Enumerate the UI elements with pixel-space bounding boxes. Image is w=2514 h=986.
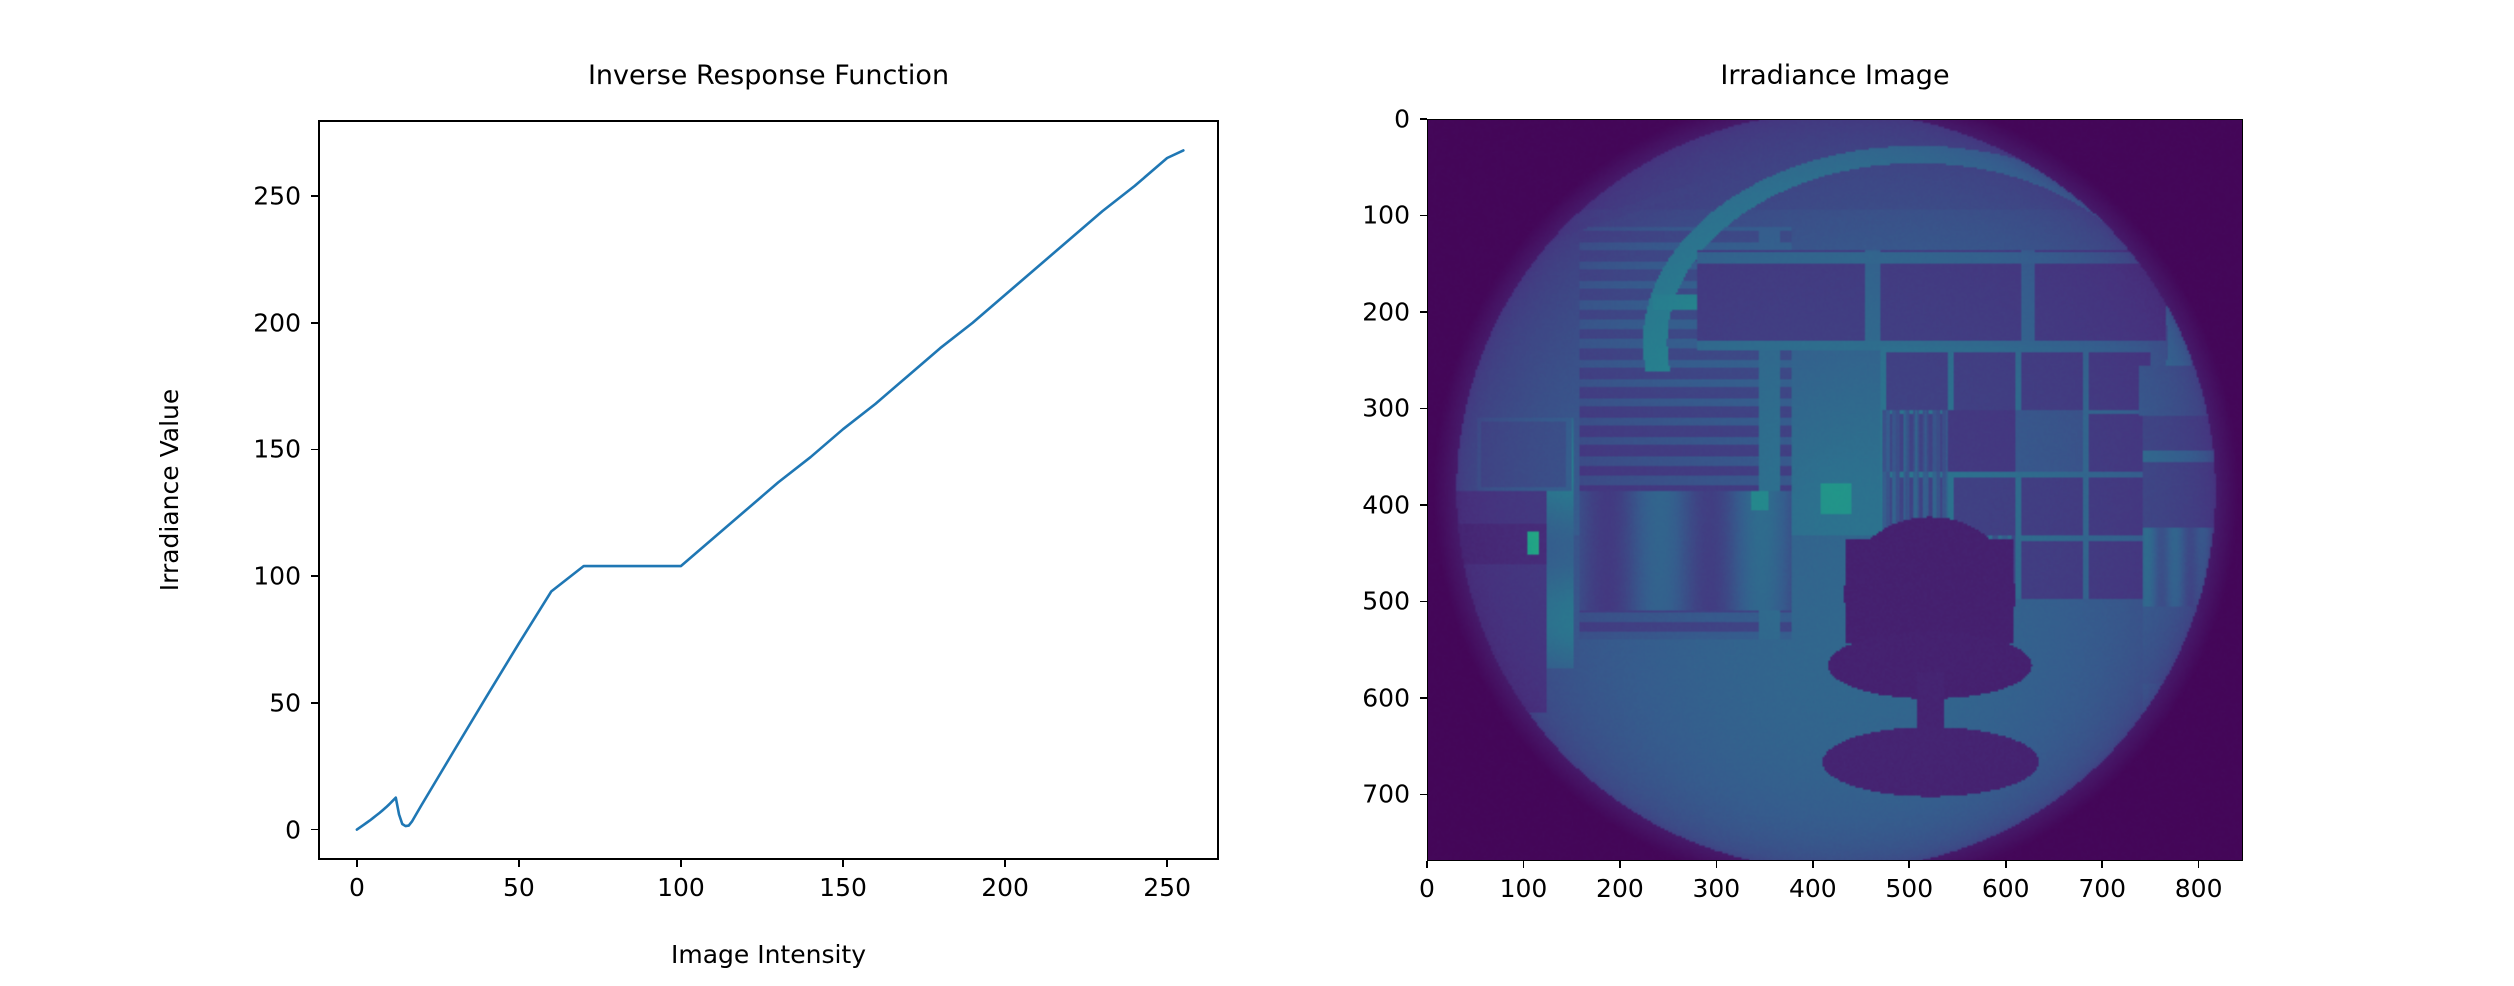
y-tick-label: 100 <box>188 562 301 591</box>
x-tick-mark <box>1908 861 1910 868</box>
left-axes <box>318 120 1219 860</box>
y-tick-mark <box>311 829 318 831</box>
left-y-axis-label: Irradiance Value <box>155 310 184 670</box>
x-tick-mark <box>1619 861 1621 868</box>
x-tick-mark <box>680 860 682 867</box>
y-tick-mark <box>311 322 318 324</box>
y-tick-mark <box>1420 697 1427 699</box>
x-tick-label: 0 <box>349 873 365 902</box>
y-tick-mark <box>1420 504 1427 506</box>
x-tick-label: 200 <box>1596 874 1644 903</box>
x-tick-label: 100 <box>657 873 705 902</box>
y-tick-mark <box>311 195 318 197</box>
y-tick-label: 200 <box>188 308 301 337</box>
x-tick-mark <box>1004 860 1006 867</box>
right-axes <box>1427 119 2243 861</box>
y-tick-label: 0 <box>1297 105 1410 134</box>
x-tick-label: 400 <box>1789 874 1837 903</box>
y-tick-mark <box>311 702 318 704</box>
y-tick-label: 200 <box>1297 297 1410 326</box>
inverse-response-panel: Inverse Response Function 05010015020025… <box>0 0 1255 986</box>
y-tick-label: 150 <box>188 435 301 464</box>
inverse-response-curve <box>318 120 1219 860</box>
x-tick-mark <box>1716 861 1718 868</box>
left-plot-title: Inverse Response Function <box>318 60 1219 91</box>
x-tick-label: 250 <box>1143 873 1191 902</box>
y-tick-mark <box>1420 601 1427 603</box>
x-tick-mark <box>1523 861 1525 868</box>
x-tick-label: 700 <box>2078 874 2126 903</box>
x-tick-label: 0 <box>1419 874 1435 903</box>
y-tick-label: 400 <box>1297 490 1410 519</box>
x-tick-mark <box>1166 860 1168 867</box>
y-tick-mark <box>1420 215 1427 217</box>
y-tick-mark <box>1420 118 1427 120</box>
y-tick-mark <box>1420 794 1427 796</box>
y-tick-label: 100 <box>1297 201 1410 230</box>
x-tick-mark <box>1426 861 1428 868</box>
x-tick-label: 600 <box>1982 874 2030 903</box>
y-tick-label: 0 <box>188 815 301 844</box>
x-tick-label: 800 <box>2175 874 2223 903</box>
y-tick-label: 600 <box>1297 683 1410 712</box>
x-tick-mark <box>842 860 844 867</box>
y-tick-label: 300 <box>1297 394 1410 423</box>
x-tick-label: 500 <box>1885 874 1933 903</box>
x-tick-label: 50 <box>503 873 535 902</box>
y-tick-mark <box>311 449 318 451</box>
y-tick-label: 250 <box>188 182 301 211</box>
x-tick-mark <box>518 860 520 867</box>
y-tick-mark <box>311 575 318 577</box>
y-tick-mark <box>1420 408 1427 410</box>
x-tick-mark <box>2198 861 2200 868</box>
y-tick-label: 500 <box>1297 587 1410 616</box>
x-tick-mark <box>356 860 358 867</box>
matplotlib-figure: Inverse Response Function 05010015020025… <box>0 0 2514 986</box>
x-tick-label: 100 <box>1500 874 1548 903</box>
x-tick-mark <box>1812 861 1814 868</box>
y-tick-label: 700 <box>1297 780 1410 809</box>
right-plot-title: Irradiance Image <box>1427 60 2243 91</box>
x-tick-mark <box>2101 861 2103 868</box>
x-tick-label: 150 <box>819 873 867 902</box>
x-tick-label: 200 <box>981 873 1029 902</box>
y-tick-label: 50 <box>188 688 301 717</box>
x-tick-mark <box>2005 861 2007 868</box>
irradiance-image <box>1427 119 2243 861</box>
y-tick-mark <box>1420 311 1427 313</box>
left-x-axis-label: Image Intensity <box>318 940 1219 969</box>
x-tick-label: 300 <box>1693 874 1741 903</box>
